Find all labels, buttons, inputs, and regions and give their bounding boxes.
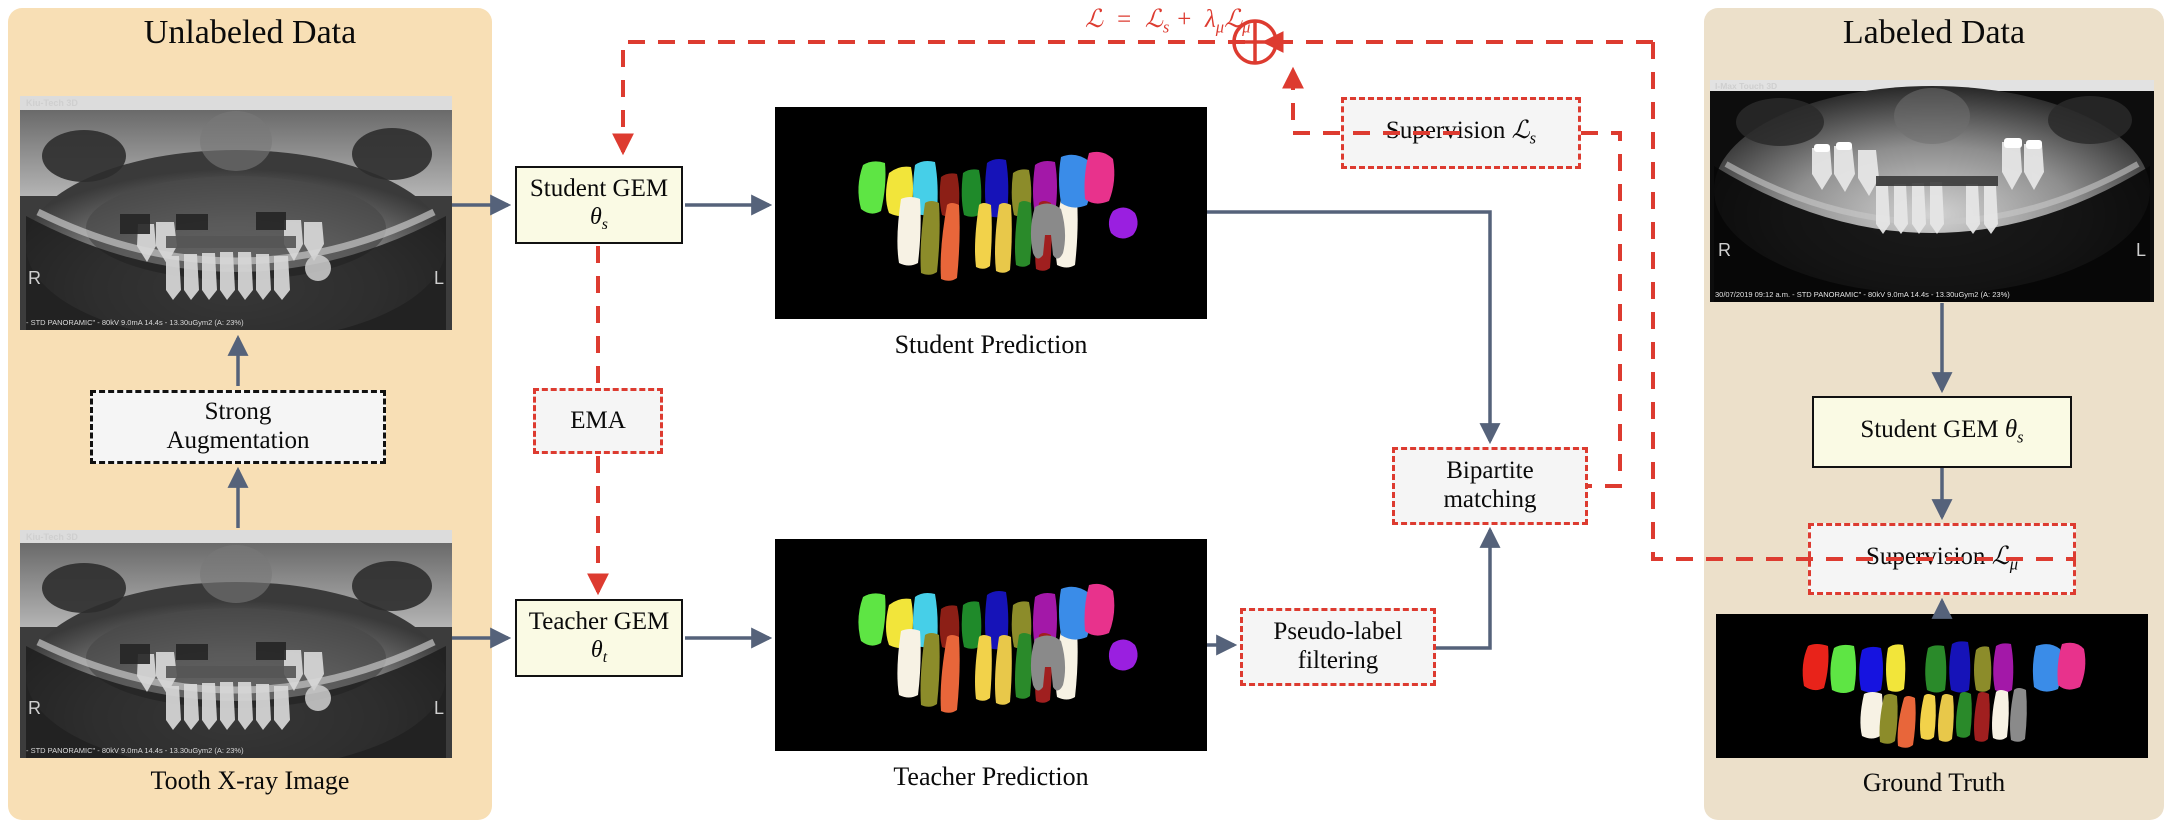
xray-right-marker: R [28,268,41,289]
supervision-lu-box[interactable]: Supervision ℒμ [1808,523,2076,595]
pseudo-label-filtering-box[interactable]: Pseudo-label filtering [1240,608,1436,686]
ground-truth-caption: Ground Truth [1704,768,2164,798]
pseudo-label-line2: filtering [1273,647,1402,676]
supervision-lu-label: Supervision ℒμ [1866,543,2018,574]
unlabeled-data-title: Unlabeled Data [8,14,492,52]
xray-brand-label: I-Max Touch 3D [1715,81,1777,91]
bipartite-line2: matching [1443,486,1536,515]
xray-left-marker: L [434,268,444,289]
student-prediction-caption: Student Prediction [775,330,1207,360]
total-loss-formula: ℒ = ℒs + λμℒμ [1085,4,1250,37]
ground-truth-image [1716,614,2148,758]
xray-exposure-footer: 30/07/2019 09:12 a.m. - STD PANORAMIC" -… [1715,290,2010,299]
pseudo-label-line1: Pseudo-label [1273,618,1402,647]
supervision-ls-box[interactable]: Supervision ℒs [1341,97,1581,169]
student-gem-box[interactable]: Student GEM θs [515,166,683,244]
xray-right-marker: R [1718,240,1731,261]
xray-exposure-footer: - STD PANORAMIC" - 80kV 9.0mA 14.4s - 13… [26,318,244,327]
xray-exposure-footer: - STD PANORAMIC" - 80kV 9.0mA 14.4s - 13… [26,746,244,755]
ema-box[interactable]: EMA [533,388,663,454]
strong-augmentation-line2: Augmentation [166,427,309,456]
student-gem-theta: θs [530,204,668,234]
strong-augmentation-box: Strong Augmentation [90,390,386,464]
xray-brand-label: Kiu-Tech 3D [26,98,78,108]
tooth-xray-image: Kiu-Tech 3D R L - STD PANORAMIC" - 80kV … [20,530,452,758]
labeled-student-gem-box[interactable]: Student GEM θs [1812,396,2072,468]
teacher-gem-theta: θt [529,637,670,667]
labeled-xray-image: I-Max Touch 3D R L 30/07/2019 09:12 a.m.… [1710,80,2154,302]
teacher-prediction-image [775,539,1207,751]
labeled-student-gem-label: Student GEM θs [1860,416,2023,447]
augmented-xray-image: Kiu-Tech 3D R L - STD PANORAMIC" - 80kV … [20,96,452,330]
student-prediction-image [775,107,1207,319]
teacher-gem-box[interactable]: Teacher GEM θt [515,599,683,677]
bipartite-line1: Bipartite [1443,457,1536,486]
xray-right-marker: R [28,698,41,719]
tooth-xray-caption: Tooth X-ray Image [8,766,492,796]
teacher-prediction-caption: Teacher Prediction [775,762,1207,792]
student-gem-label: Student GEM [530,175,668,204]
teacher-gem-label: Teacher GEM [529,608,670,637]
supervision-ls-label: Supervision ℒs [1386,117,1536,148]
xray-left-marker: L [2136,240,2146,261]
bipartite-matching-box[interactable]: Bipartite matching [1392,447,1588,525]
strong-augmentation-line1: Strong [166,398,309,427]
xray-left-marker: L [434,698,444,719]
labeled-data-title: Labeled Data [1704,14,2164,52]
ema-label: EMA [570,407,626,436]
xray-brand-label: Kiu-Tech 3D [26,532,78,542]
